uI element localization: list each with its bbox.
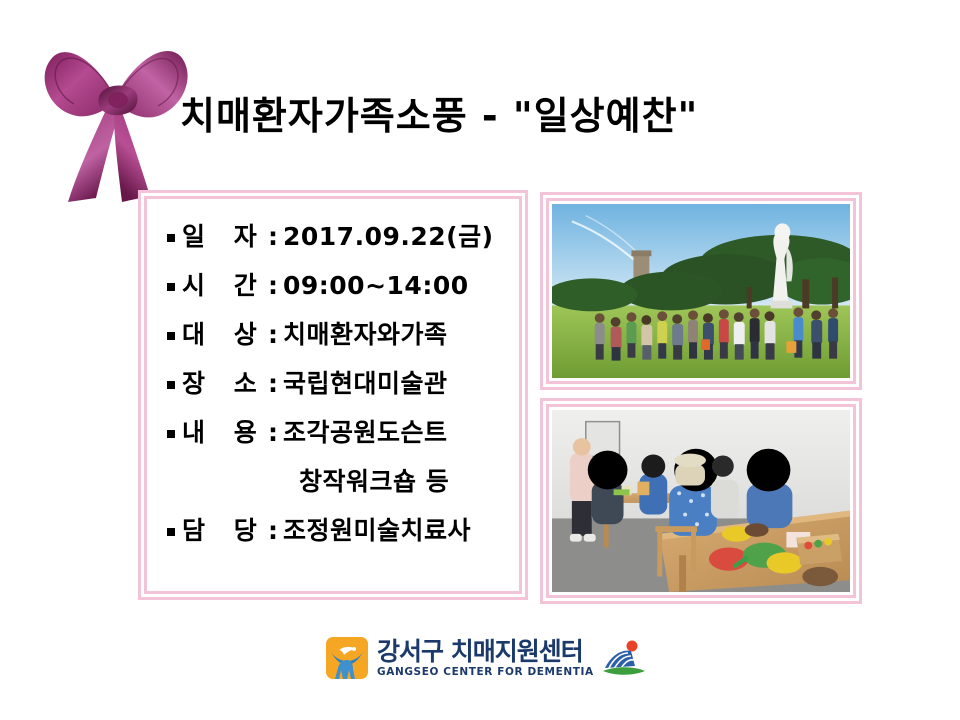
info-value: 2017.09.22(금) bbox=[283, 219, 494, 255]
info-label: 대 상 bbox=[182, 317, 268, 353]
bullet-icon bbox=[167, 234, 175, 242]
list-item: 시 간 : 09:00~14:00 bbox=[167, 268, 515, 304]
ribbon-bow-icon bbox=[26, 24, 196, 209]
info-value-continued: 창작워크숍 등 bbox=[299, 464, 449, 500]
list-item: 대 상 : 치매환자와가족 bbox=[167, 317, 515, 353]
info-label: 일 자 bbox=[182, 219, 268, 255]
list-item-continuation: 창작워크숍 등 bbox=[167, 464, 515, 500]
info-panel: 일 자 : 2017.09.22(금) 시 간 : 09:00~14:00 대 … bbox=[138, 190, 528, 600]
info-separator: : bbox=[268, 513, 278, 549]
info-separator: : bbox=[268, 366, 278, 402]
list-item: 담 당 : 조정원미술치료사 bbox=[167, 513, 515, 549]
logo-english-name: GANGSEO CENTER FOR DEMENTIA bbox=[377, 665, 594, 679]
info-label: 장 소 bbox=[182, 366, 268, 402]
info-separator: : bbox=[268, 317, 278, 353]
info-label: 내 용 bbox=[182, 415, 268, 451]
footer-logo: 강서구 치매지원센터 GANGSEO CENTER FOR DEMENTIA bbox=[325, 630, 665, 686]
list-item: 일 자 : 2017.09.22(금) bbox=[167, 219, 515, 255]
info-value: 조각공원도슨트 bbox=[283, 415, 448, 451]
poster-slide: 치매환자가족소풍 - "일상예찬" 일 자 : 2017.09.22(금) 시 … bbox=[0, 0, 960, 720]
info-separator: : bbox=[268, 268, 278, 304]
photo-frame-sculpture-park bbox=[540, 192, 862, 390]
info-label: 담 당 bbox=[182, 513, 268, 549]
logo-korean-name: 강서구 치매지원센터 bbox=[377, 638, 594, 665]
gangseo-dementia-center-mark-icon bbox=[325, 636, 369, 680]
photo-sculpture-park bbox=[552, 204, 850, 378]
info-separator: : bbox=[268, 219, 278, 255]
info-separator: : bbox=[268, 415, 278, 451]
list-item: 내 용 : 조각공원도슨트 bbox=[167, 415, 515, 451]
bullet-icon bbox=[167, 283, 175, 291]
list-item: 장 소 : 국립현대미술관 bbox=[167, 366, 515, 402]
info-value: 치매환자와가족 bbox=[283, 317, 448, 353]
info-value: 09:00~14:00 bbox=[283, 268, 469, 304]
info-list: 일 자 : 2017.09.22(금) 시 간 : 09:00~14:00 대 … bbox=[167, 219, 515, 562]
gangseo-gu-emblem-icon bbox=[601, 638, 647, 678]
bullet-icon bbox=[167, 430, 175, 438]
page-title: 치매환자가족소풍 - "일상예찬" bbox=[180, 88, 920, 144]
bullet-icon bbox=[167, 381, 175, 389]
info-value: 국립현대미술관 bbox=[283, 366, 448, 402]
info-label: 시 간 bbox=[182, 268, 268, 304]
info-value: 조정원미술치료사 bbox=[283, 513, 471, 549]
bullet-icon bbox=[167, 528, 175, 536]
logo-text-block: 강서구 치매지원센터 GANGSEO CENTER FOR DEMENTIA bbox=[377, 638, 594, 679]
photo-frame-craft-workshop bbox=[540, 398, 862, 604]
photo-craft-workshop bbox=[552, 410, 850, 592]
bullet-icon bbox=[167, 332, 175, 340]
